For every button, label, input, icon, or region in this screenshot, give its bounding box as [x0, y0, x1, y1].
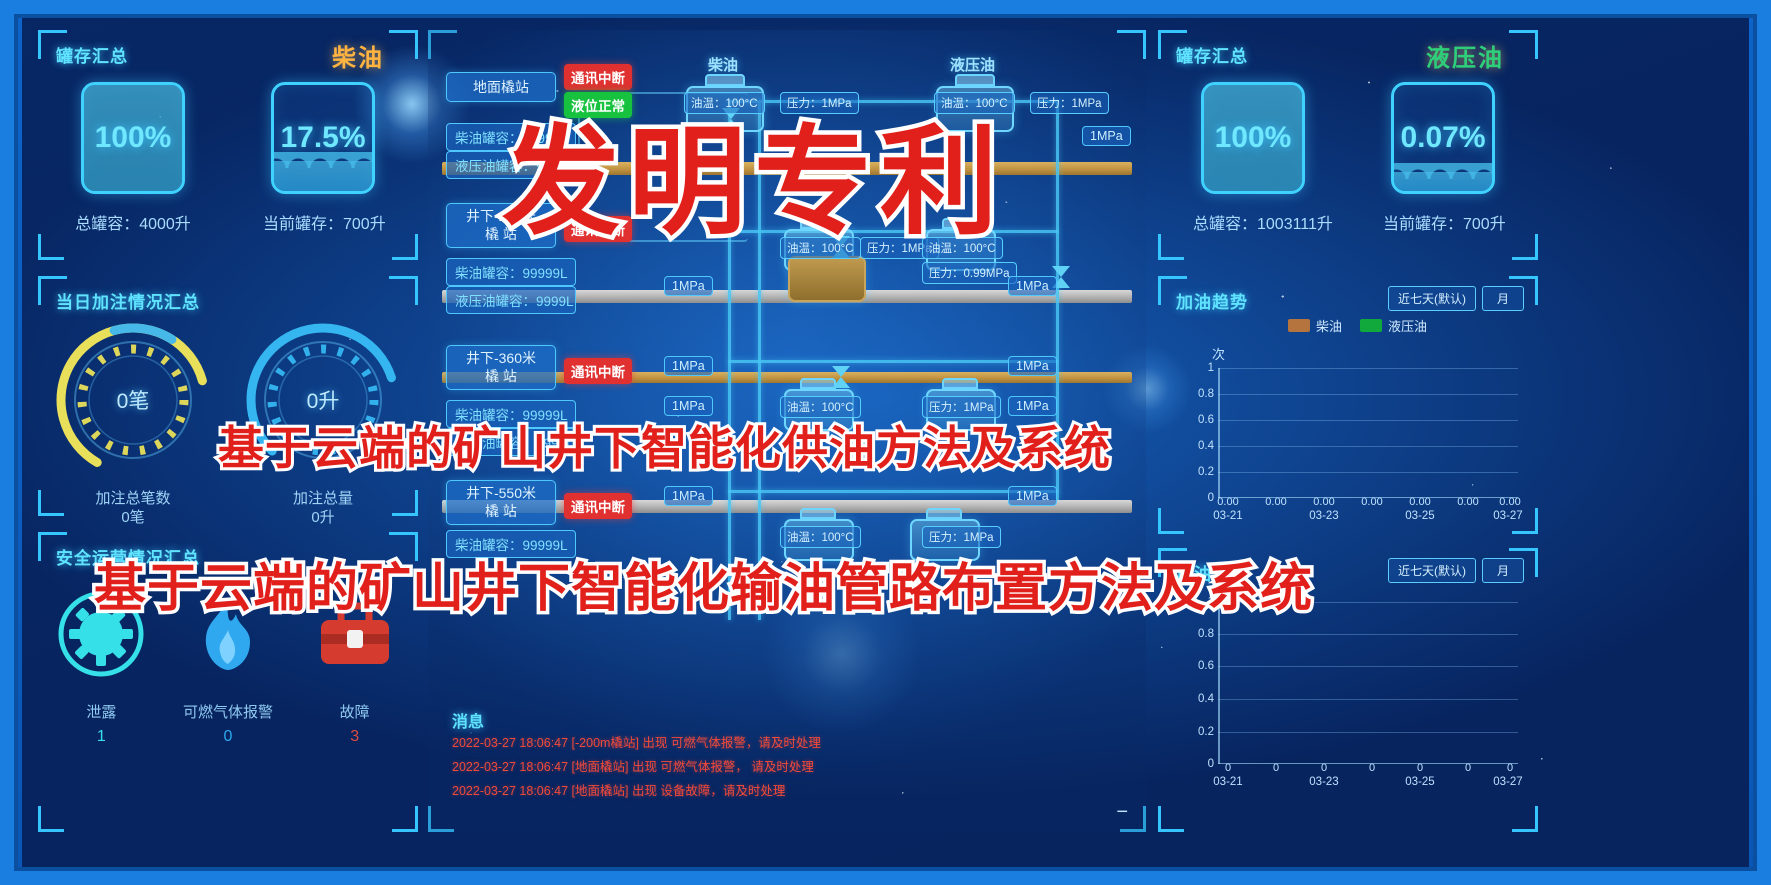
product-label-diesel: 柴油 [332, 38, 384, 73]
chart-xtick: 03-21 [1213, 776, 1242, 788]
sensor-tag-press-4: 压力：0.99MPa [922, 262, 1017, 284]
chart-gridline [1218, 666, 1518, 667]
chart-ytick: 0 [1184, 758, 1214, 770]
watermark-title: 发明专利 [502, 86, 1006, 257]
chart-range-button-month[interactable]: 月 [1482, 286, 1524, 311]
tank-caption: 总罐容：1003111升 [1193, 210, 1313, 234]
chart-ytick: 1 [1184, 362, 1214, 374]
gauge-caption-line2: 0升 [228, 509, 418, 528]
legend-item-diesel[interactable]: 柴油 [1288, 316, 1342, 335]
panel-refuel-trend-chart: 加油趋势 近七天(默认) 月 柴油 液压油 次 [1158, 276, 1538, 534]
tank-caption: 当前罐存：700升 [263, 210, 383, 234]
vessel-cap-diesel-top [705, 74, 745, 86]
chart-y-axis [1218, 602, 1220, 764]
chart-point-label: 0 [1465, 762, 1471, 774]
chart-xtick: 03-25 [1405, 776, 1434, 788]
gauge-caption: 加注总笔数 0笔 [38, 490, 228, 528]
pressure-tag-5: 1MPa [1008, 356, 1057, 376]
tank-graphic: 100% [1201, 82, 1305, 194]
safety-label: 泄露 [38, 701, 165, 722]
chart-range-button-month[interactable]: 月 [1482, 558, 1524, 583]
oil-label-diesel: 柴油 [708, 54, 738, 75]
chart-range-button-week[interactable]: 近七天(默认) [1388, 558, 1476, 583]
safety-value: 1 [38, 728, 165, 746]
zoom-out-button[interactable]: − [1116, 801, 1128, 824]
oil-label-hydraulic: 液压油 [950, 54, 995, 75]
pressure-tag-9: 1MPa [1008, 486, 1057, 506]
chart-point-label: 0 [1369, 762, 1375, 774]
tank-percent-label: 17.5% [274, 85, 372, 191]
tank-widget-total-right: 100% 总罐容：1003111升 [1193, 82, 1313, 234]
vessel-cap-level550-a [800, 508, 836, 519]
vessel-level200-filled [788, 256, 866, 302]
legend-label-hydraulic: 液压油 [1388, 316, 1427, 335]
vessel-cap-hydraulic-top [955, 74, 995, 86]
chart-ytick: 0.2 [1184, 466, 1214, 478]
chart-point-label: 0 [1417, 762, 1423, 774]
chart-point-label: 0.00 [1499, 496, 1520, 508]
safety-label: 故障 [291, 701, 418, 722]
chart-xtick: 03-23 [1309, 776, 1338, 788]
chart-point-label: 0.00 [1361, 496, 1382, 508]
chart-ytick: 0.4 [1184, 693, 1214, 705]
safety-value: 0 [165, 728, 292, 746]
chart-point-label: 0 [1273, 762, 1279, 774]
chart-range-button-week[interactable]: 近七天(默认) [1388, 286, 1476, 311]
chart-gridline [1218, 699, 1518, 700]
chart-ytick: 0.4 [1184, 440, 1214, 452]
chart-xtick: 03-25 [1405, 510, 1434, 522]
dashboard-canvas: 罐存汇总 柴油 100% 总罐容：4000升 17.5% [22, 14, 1749, 870]
pressure-tag-4: 1MPa [664, 356, 713, 376]
legend-label-diesel: 柴油 [1316, 316, 1342, 335]
tank-graphic: 0.07% [1391, 82, 1495, 194]
station-name-line2: 橇 站 [456, 503, 546, 521]
vessel-cap-level360-b [942, 378, 978, 389]
chart-ytick: 0.6 [1184, 660, 1214, 672]
pressure-tag-2: 1MPa [664, 276, 713, 296]
watermark-line-1: 基于云端的矿山井下智能化供油方法及系统 [218, 412, 1111, 478]
chart-legend-trend: 柴油 液压油 [1288, 316, 1427, 335]
chart-gridline [1218, 634, 1518, 635]
tank-graphic: 17.5% [271, 82, 375, 194]
dashboard-root: 罐存汇总 柴油 100% 总罐容：4000升 17.5% [0, 0, 1771, 885]
legend-item-hydraulic[interactable]: 液压油 [1360, 316, 1427, 335]
chart-plot-area-count: 1 0.8 0.6 0.4 0.2 0 0 0 0 0 0 0 0 03-21 … [1218, 602, 1518, 764]
tank-percent-label: 0.07% [1394, 85, 1492, 191]
chart-ytick: 0.6 [1184, 414, 1214, 426]
tank-widget-current-right: 0.07% 当前罐存：700升 [1383, 82, 1503, 234]
panel-title-refuel-summary: 当日加注情况汇总 [56, 288, 200, 313]
station-name-line1: 井下-550米 [456, 485, 546, 503]
safety-label: 可燃气体报警 [165, 701, 292, 722]
chart-gridline [1218, 420, 1518, 421]
chart-gridline [1218, 732, 1518, 733]
tank-graphic: 100% [81, 82, 185, 194]
chart-xtick: 03-21 [1213, 510, 1242, 522]
panel-left-refuel-summary: 当日加注情况汇总 0笔 [38, 276, 418, 516]
legend-swatch-diesel [1288, 319, 1310, 332]
chart-gridline [1218, 446, 1518, 447]
chart-ytick: 0.8 [1184, 628, 1214, 640]
watermark-line-2: 基于云端的矿山井下智能化输油管路布置方法及系统 [94, 546, 1313, 621]
panel-right-tank-summary: 罐存汇总 液压油 100% 总罐容：1003111升 0.07% [1158, 30, 1538, 260]
gauge-caption: 加注总量 0升 [228, 490, 418, 528]
sensor-tag-press-6: 压力：1MPa [922, 526, 1001, 548]
sensor-tag-temp-6: 油温：100°C [780, 526, 861, 548]
chart-point-label: 0 [1321, 762, 1327, 774]
chart-point-label: 0.00 [1217, 496, 1238, 508]
chart-ytick: 0.2 [1184, 726, 1214, 738]
gauge-caption-line1: 加注总笔数 [38, 490, 228, 509]
cap-tag-hydraulic-200: 液压油罐容：9999L [446, 286, 576, 314]
pressure-tag-3: 1MPa [1008, 276, 1057, 296]
vessel-cap-level360-a [800, 378, 836, 389]
chart-ytick: 0 [1184, 492, 1214, 504]
chart-gridline [1218, 368, 1518, 369]
pressure-tag-8: 1MPa [664, 486, 713, 506]
tank-caption: 当前罐存：700升 [1383, 210, 1503, 234]
gauge-value: 0笔 [49, 316, 217, 484]
cap-tag-diesel-200: 柴油罐容：99999L [446, 258, 576, 286]
chart-point-label: 0.00 [1313, 496, 1334, 508]
chart-y-unit-trend: 次 [1212, 344, 1225, 363]
chart-gridline [1218, 394, 1518, 395]
panel-title-refuel-trend: 加油趋势 [1176, 288, 1248, 313]
chart-xtick: 03-27 [1493, 510, 1522, 522]
vessel-cap-level550-b [926, 508, 962, 519]
message-log-title: 消息 [452, 708, 484, 732]
chart-point-label: 0.00 [1457, 496, 1478, 508]
station-name-line1: 井下-360米 [456, 350, 546, 368]
chart-range-controls-count: 近七天(默认) 月 [1388, 558, 1524, 583]
chart-ytick: 0.8 [1184, 388, 1214, 400]
gauge-refuel-count: 0笔 加注总笔数 0笔 [38, 316, 228, 528]
message-log-line: 2022-03-27 18:06:47 [-200m橇站] 出现 可燃气体报警，… [452, 732, 821, 751]
chart-range-controls-trend: 近七天(默认) 月 [1388, 286, 1524, 311]
station-tag-level-550[interactable]: 井下-550米 橇 站 [446, 480, 556, 525]
product-label-hydraulic: 液压油 [1426, 38, 1504, 73]
message-log-line: 2022-03-27 18:06:47 [地面橇站] 出现 可燃气体报警， 请及… [452, 756, 814, 775]
gauge-ring: 0笔 [49, 316, 217, 484]
pressure-tag-1: 1MPa [1082, 126, 1131, 146]
chart-y-axis [1218, 368, 1220, 498]
gauge-caption-line1: 加注总量 [228, 490, 418, 509]
chart-gridline [1218, 472, 1518, 473]
safety-value: 3 [291, 728, 418, 746]
chart-point-label: 0.00 [1265, 496, 1286, 508]
gauge-caption-line2: 0笔 [38, 509, 228, 528]
chart-plot-area-trend: 1 0.8 0.6 0.4 0.2 0 0.00 0.00 0.00 0.00 … [1218, 368, 1518, 498]
tank-percent-label: 100% [1204, 85, 1302, 191]
message-log-panel: 消息 2022-03-27 18:06:47 [-200m橇站] 出现 可燃气体… [436, 698, 1136, 824]
tank-percent-label: 100% [84, 85, 182, 191]
station-name-line2: 橇 站 [456, 368, 546, 386]
status-badge-comm-550: 通讯中断 [564, 493, 632, 519]
status-badge-comm-360: 通讯中断 [564, 358, 632, 384]
panel-left-tank-summary: 罐存汇总 柴油 100% 总罐容：4000升 17.5% [38, 30, 418, 260]
message-log-line: 2022-03-27 18:06:47 [地面橇站] 出现 设备故障，请及时处理 [452, 780, 785, 799]
panel-title-tank-summary-left: 罐存汇总 [56, 42, 128, 67]
legend-swatch-hydraulic [1360, 319, 1382, 332]
tank-caption: 总罐容：4000升 [73, 210, 193, 234]
sensor-tag-press-2: 压力：1MPa [1030, 92, 1109, 114]
panel-title-tank-summary-right: 罐存汇总 [1176, 42, 1248, 67]
chart-point-label: 0.00 [1409, 496, 1430, 508]
valve-icon-3[interactable] [832, 366, 850, 388]
tank-widget-current-left: 17.5% 当前罐存：700升 [263, 82, 383, 234]
chart-xtick: 03-23 [1309, 510, 1338, 522]
chart-point-label: 0 [1507, 762, 1513, 774]
chart-point-label: 0 [1225, 762, 1231, 774]
station-tag-level-360[interactable]: 井下-360米 橇 站 [446, 345, 556, 390]
chart-xtick: 03-27 [1493, 776, 1522, 788]
tank-widget-total-left: 100% 总罐容：4000升 [73, 82, 193, 234]
